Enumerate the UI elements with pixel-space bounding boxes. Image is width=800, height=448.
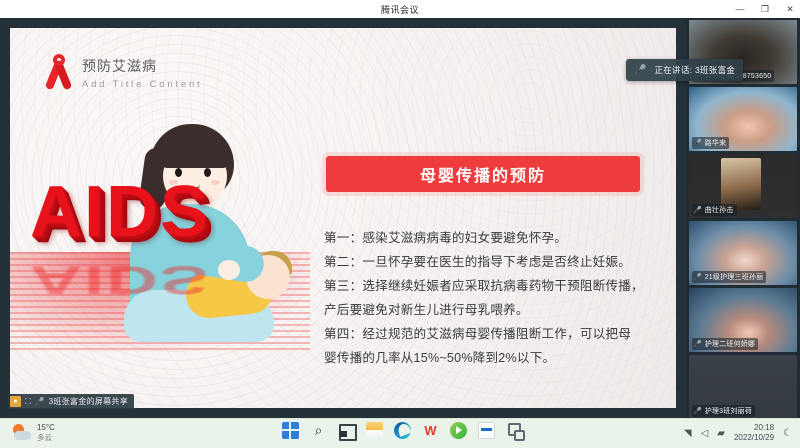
microphone-icon: 🎤: [693, 340, 702, 348]
monitor-icon: ⛶: [25, 397, 31, 407]
screenshot-app-icon[interactable]: [506, 422, 523, 439]
screen-share-status-bar: ● ⛶ 🎤 3班张富金的屏幕共享: [8, 394, 134, 409]
participant-tile[interactable]: 🎤 路华来: [689, 87, 797, 151]
moon-icon[interactable]: ☾: [783, 428, 792, 439]
maximize-icon[interactable]: ❐: [759, 5, 771, 14]
aids-wordmark: AIDS: [30, 168, 246, 256]
slide-body-text: 第一：感染艾滋病病毒的妇女要避免怀孕。 第二：一旦怀孕要在医生的指导下考虑是否终…: [324, 226, 654, 370]
participant-name: 护理3班刘丽荷: [705, 406, 752, 416]
participant-name: 路华来: [705, 138, 727, 148]
battery-icon[interactable]: ▰: [717, 428, 725, 439]
participant-name-badge: 🎤 21级护理三班孙丽: [692, 271, 766, 283]
microphone-icon: 🎤: [693, 273, 702, 281]
meeting-window: 预防艾滋病 Add Title Content: [0, 18, 800, 418]
participant-tile[interactable]: 🎤 21级护理三班孙丽: [689, 221, 797, 285]
active-speaker-toast: 🎤 正在讲话: 3班张富金: [626, 59, 743, 81]
windows-taskbar: 15°C 多云 ⌕ W ◥ ◁ ▰ 20:18 2022/10/29 ☾: [0, 418, 800, 448]
slide-heading-banner: 母婴传播的预防: [326, 156, 640, 192]
clock-date: 2022/10/29: [734, 433, 774, 443]
weather-condition: 多云: [37, 433, 55, 443]
participant-tile[interactable]: 🎤 护理二班何娇娜: [689, 288, 797, 352]
slide-brand-title-en: Add Title Content: [82, 79, 202, 90]
minimize-icon[interactable]: —: [734, 5, 746, 14]
document-app-icon[interactable]: [478, 422, 495, 439]
aids-ribbon-icon: [46, 52, 72, 94]
microphone-icon: 🎤: [634, 65, 646, 76]
person-icon: ●: [10, 396, 21, 407]
taskbar-clock[interactable]: 20:18 2022/10/29: [734, 423, 774, 443]
participant-name: 21级护理三班孙丽: [705, 272, 764, 282]
screen-share-status-text: 3班张富金的屏幕共享: [49, 396, 128, 407]
slide-body-line-1: 第一：感染艾滋病病毒的妇女要避免怀孕。: [324, 226, 654, 250]
participant-name-badge: 🎤 护理二班何娇娜: [692, 338, 758, 350]
slide-body-line-2: 第二：一旦怀孕要在医生的指导下考虑是否终止妊娠。: [324, 250, 654, 274]
slide-body-line-3: 第三：选择继续妊娠者应采取抗病毒药物干预阻断传播，: [324, 274, 654, 298]
microphone-icon: 🎤: [693, 139, 702, 147]
folder-icon[interactable]: [366, 422, 383, 439]
sun-cloud-icon: [12, 424, 32, 442]
microphone-icon: 🎤: [693, 407, 702, 415]
slide-brand-header: 预防艾滋病 Add Title Content: [46, 52, 202, 94]
windows-start-icon[interactable]: [282, 422, 299, 439]
microphone-icon: 🎤: [693, 206, 702, 214]
wps-office-icon[interactable]: W: [422, 422, 439, 439]
participant-name-badge: 🎤 曲壮孙击: [692, 204, 737, 216]
participant-name-badge: 🎤 护理3班刘丽荷: [692, 405, 755, 417]
slide-body-line-5: 第四：经过规范的艾滋病母婴传播阻断工作，可以把母: [324, 322, 654, 346]
system-tray: ◥ ◁ ▰ 20:18 2022/10/29 ☾: [684, 423, 792, 443]
task-view-icon[interactable]: [338, 422, 355, 439]
participant-name-badge: 🎤 路华来: [692, 137, 729, 149]
clock-time: 20:18: [754, 423, 774, 433]
media-player-icon[interactable]: [450, 422, 467, 439]
window-titlebar: 腾讯会议 — ❐ ✕: [0, 0, 800, 18]
weather-temperature: 15°C: [37, 423, 55, 433]
active-speaker-text: 正在讲话: 3班张富金: [654, 64, 735, 76]
participant-tile[interactable]: 🎤 护理3班刘丽荷: [689, 355, 797, 419]
participant-name: 护理二班何娇娜: [705, 339, 755, 349]
aids-wordmark-reflection: AIDS: [30, 264, 246, 299]
edge-browser-icon[interactable]: [394, 422, 411, 439]
speaker-icon[interactable]: ◁: [701, 428, 709, 439]
slide-heading-text: 母婴传播的预防: [420, 162, 546, 186]
taskbar-app-icons: ⌕ W: [282, 422, 523, 439]
window-title: 腾讯会议: [381, 3, 419, 16]
presentation-slide: 预防艾滋病 Add Title Content: [10, 28, 676, 408]
microphone-icon: 🎤: [35, 397, 45, 406]
wifi-icon[interactable]: ◥: [684, 428, 692, 439]
window-controls: — ❐ ✕: [734, 0, 796, 18]
participant-tile[interactable]: 🎤 曲壮孙击: [689, 154, 797, 218]
weather-widget[interactable]: 15°C 多云: [12, 423, 55, 443]
slide-body-line-4: 产后要避免对新生儿进行母乳喂养。: [324, 298, 654, 322]
participant-name: 曲壮孙击: [705, 205, 734, 215]
slide-body-line-6: 婴传播的几率从15%~50%降到2%以下。: [324, 346, 654, 370]
close-icon[interactable]: ✕: [784, 5, 796, 14]
shared-screen-region[interactable]: 预防艾滋病 Add Title Content: [0, 18, 686, 418]
search-icon[interactable]: ⌕: [310, 422, 327, 439]
slide-brand-title-cn: 预防艾滋病: [82, 56, 202, 76]
